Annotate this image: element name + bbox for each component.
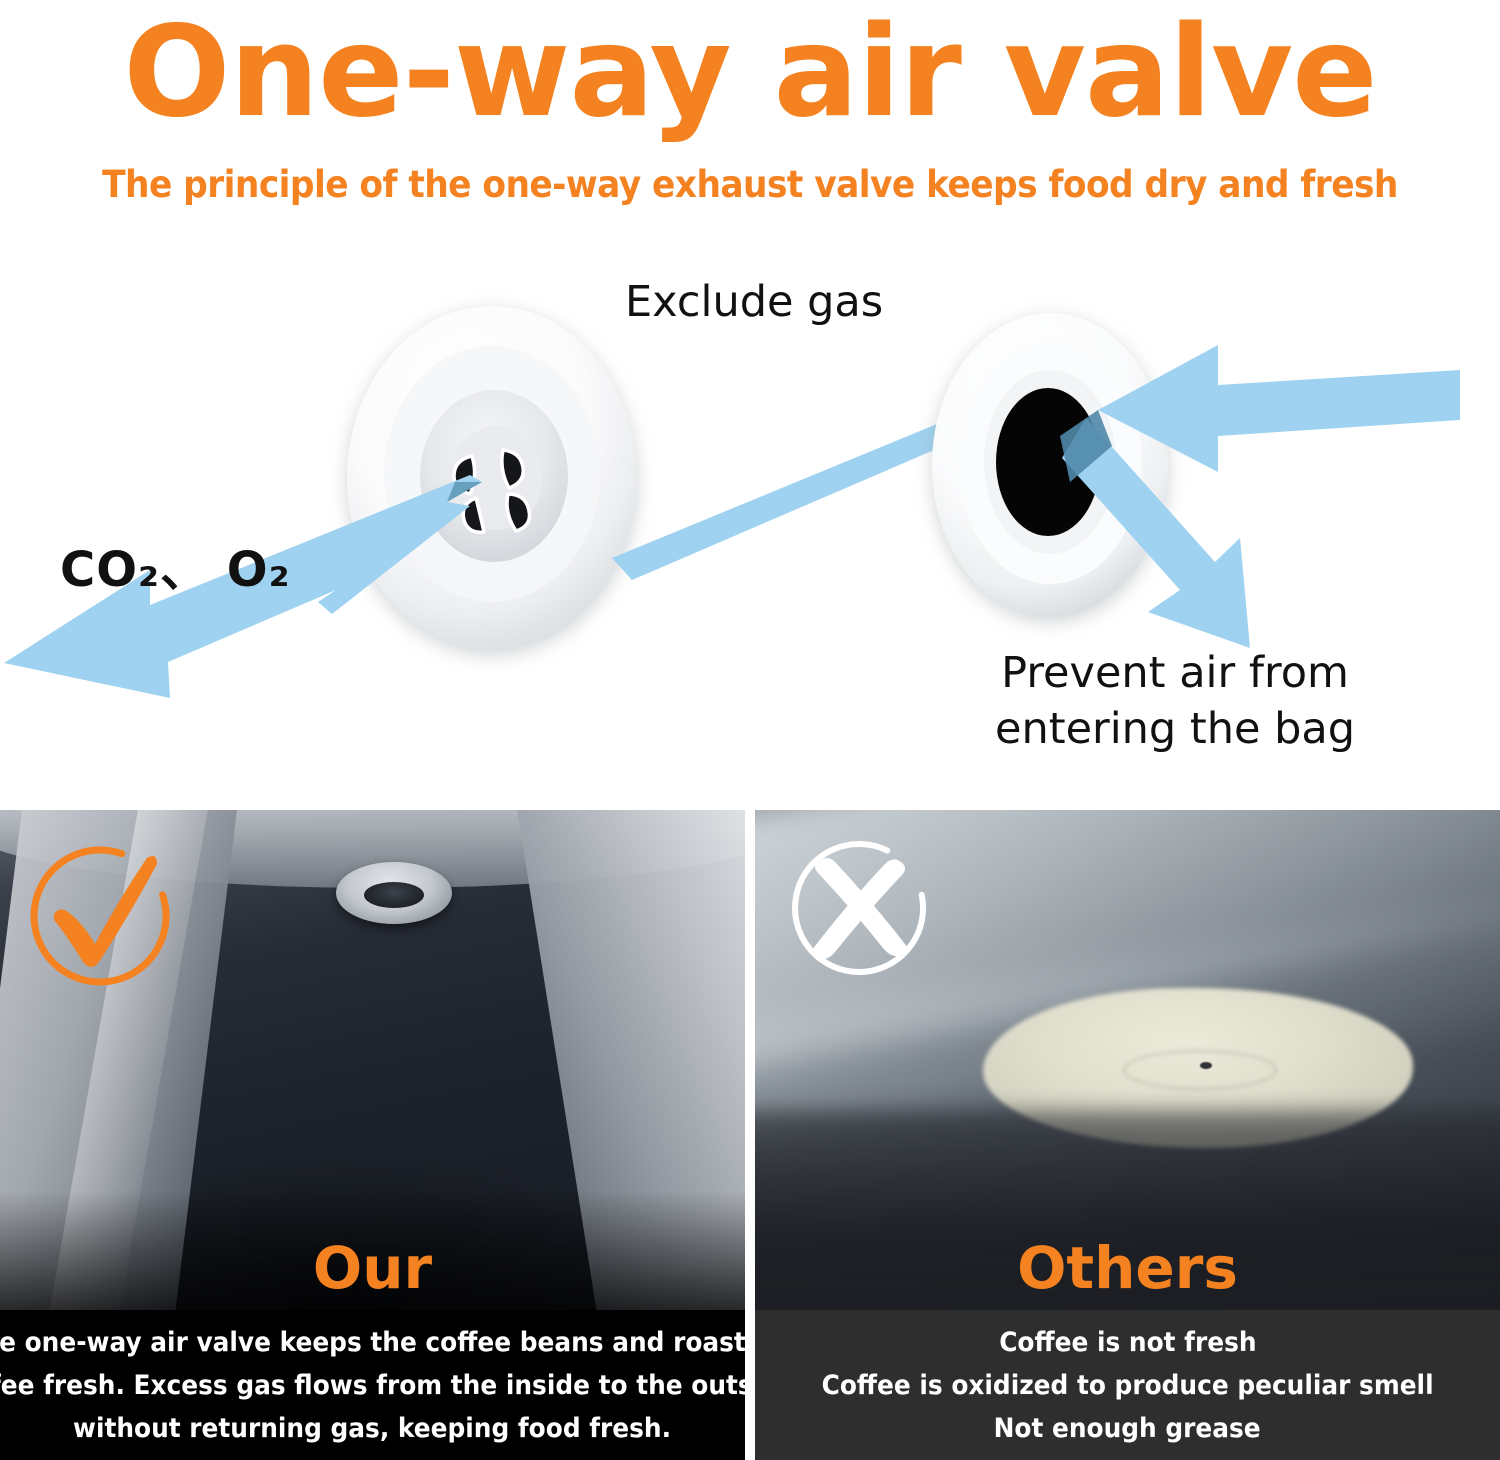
our-text-line-2: coffee fresh. Excess gas flows from the … <box>0 1364 745 1407</box>
left-valve-open-icon <box>4 306 1072 698</box>
our-panel: Our The one-way air valve keeps the coff… <box>0 810 745 1460</box>
others-text-line-3: Not enough grease <box>994 1407 1261 1450</box>
comparison-section: Our The one-way air valve keeps the coff… <box>0 810 1500 1460</box>
exclude-gas-label: Exclude gas <box>625 275 883 329</box>
our-text-block: The one-way air valve keeps the coffee b… <box>0 1310 745 1460</box>
infographic-page: One-way air valve The principle of the o… <box>0 0 1500 1460</box>
prevent-air-line-1: Prevent air from <box>995 645 1355 701</box>
prevent-air-line-2: entering the bag <box>995 701 1355 757</box>
our-text-line-3: without returning gas, keeping food fres… <box>73 1407 671 1450</box>
others-text-block: Coffee is not fresh Coffee is oxidized t… <box>755 1310 1500 1460</box>
prevent-air-label: Prevent air from entering the bag <box>995 645 1355 757</box>
others-text-line-2: Coffee is oxidized to produce peculiar s… <box>821 1364 1433 1407</box>
cross-mark-icon <box>783 832 935 984</box>
page-subtitle: The principle of the one-way exhaust val… <box>53 160 1448 210</box>
valve-on-bag <box>336 862 452 924</box>
others-panel: Others Coffee is not fresh Coffee is oxi… <box>755 810 1500 1460</box>
our-text-line-1: The one-way air valve keeps the coffee b… <box>0 1321 745 1364</box>
right-valve-closed-icon <box>932 313 1460 648</box>
page-title: One-way air valve <box>0 2 1500 142</box>
check-mark-icon <box>24 840 176 992</box>
panel-divider <box>745 810 755 1460</box>
valve-diagram-section: Exclude gas CO₂、 O₂ Prevent air from ent… <box>0 250 1500 805</box>
header: One-way air valve The principle of the o… <box>0 0 1500 250</box>
our-caption: Our <box>313 1238 432 1298</box>
co2-o2-label: CO₂、 O₂ <box>60 543 291 597</box>
others-photo: Others <box>755 810 1500 1310</box>
others-caption: Others <box>1017 1238 1238 1298</box>
our-caption-strip: Our <box>0 1225 745 1310</box>
others-text-line-1: Coffee is not fresh <box>999 1321 1256 1364</box>
others-caption-strip: Others <box>755 1225 1500 1310</box>
clogged-valve-dot <box>1200 1062 1212 1069</box>
our-photo: Our <box>0 810 745 1310</box>
